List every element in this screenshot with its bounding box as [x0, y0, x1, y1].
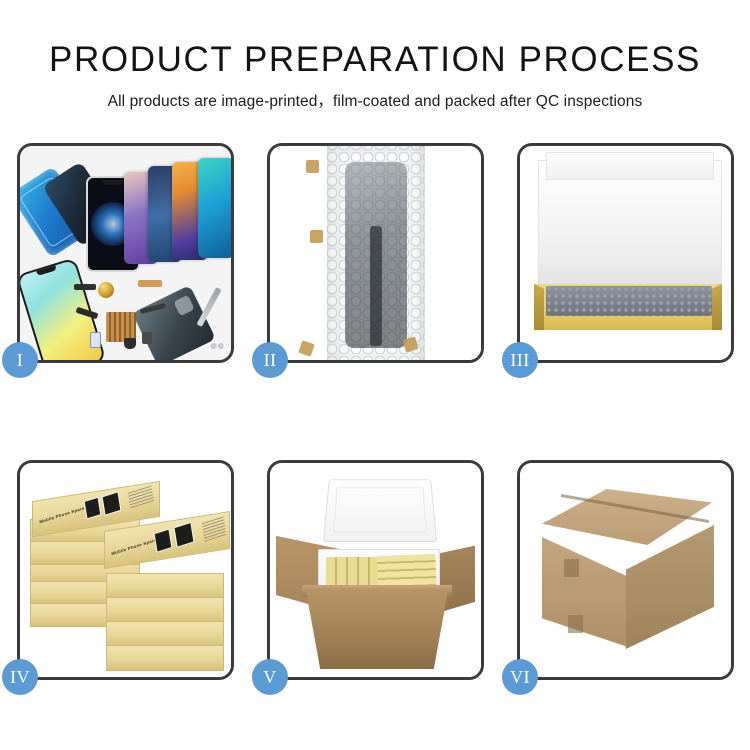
open-foam-box-image [520, 146, 731, 360]
process-step-panel-ii[interactable]: II [267, 143, 484, 363]
process-step-panel-iii[interactable]: III [517, 143, 734, 363]
tape-strip-3-shape [298, 340, 315, 357]
process-steps-grid: I II III [17, 143, 735, 680]
process-step-panel-i[interactable]: I [17, 143, 234, 363]
box-screen-thumb-back-2 [102, 491, 122, 516]
phone-parts-image [20, 146, 231, 360]
step-badge-iii: III [502, 342, 538, 378]
component-bar-shape [74, 284, 96, 290]
styrofoam-lid-shape [323, 479, 437, 542]
bubble-wrap-image [270, 146, 481, 360]
step-badge-i: I [2, 342, 38, 378]
page-header: PRODUCT PREPARATION PROCESS All products… [0, 0, 750, 111]
stacked-box-r2 [106, 597, 224, 623]
stacked-boxes-image: Mobile Phone Spare Parts Mobile Phone Sp… [20, 463, 231, 677]
carton-tape-2-shape [568, 615, 583, 633]
stacked-box-r3 [106, 621, 224, 647]
step-badge-ii: II [252, 342, 288, 378]
box-lid-flap-shape [546, 152, 714, 180]
process-step-panel-v[interactable]: V [267, 460, 484, 680]
carton-left-face-shape [542, 537, 628, 647]
box-spec-lines-front [202, 516, 227, 541]
box-screen-thumb-front-2 [173, 522, 194, 548]
step-badge-v: V [252, 659, 288, 695]
camera-module-shape [124, 338, 136, 349]
process-step-panel-iv[interactable]: Mobile Phone Spare Parts Mobile Phone Sp… [17, 460, 234, 680]
foam-insert-shape [546, 286, 712, 316]
carton-tape-1-shape [564, 559, 579, 577]
screws-shape [210, 342, 228, 350]
lcd-notch-shape [102, 180, 124, 185]
button-component-shape [142, 332, 152, 344]
page-subtitle: All products are image-printed，film-coat… [0, 79, 750, 111]
box-screen-thumb-back-1 [84, 497, 102, 520]
box-spec-lines-back [128, 485, 155, 510]
carton-front-shape [306, 591, 448, 669]
carton-with-foam-image [270, 463, 481, 677]
bubble-wrap-bag-shape [327, 146, 425, 360]
page-title: PRODUCT PREPARATION PROCESS [0, 0, 750, 79]
process-step-panel-vi[interactable]: VI [517, 460, 734, 680]
sim-tray-shape [90, 332, 101, 348]
stacked-box-r4 [106, 645, 224, 671]
carton-right-face-shape [626, 525, 714, 649]
wrapped-flex-cable-shape [370, 226, 382, 346]
sealed-carton-image [520, 463, 731, 677]
stacked-box-r1 [106, 573, 224, 599]
phone-fan-4-shape [198, 158, 231, 258]
tape-strip-2-shape [310, 230, 323, 243]
speaker-component-shape [98, 282, 114, 298]
step-badge-vi: VI [502, 659, 538, 695]
tape-strip-1-shape [306, 160, 319, 173]
box-screen-thumb-front-1 [154, 529, 173, 553]
flex-cable-c-shape [138, 280, 162, 287]
large-phone-notch-shape [36, 265, 57, 276]
step-badge-iv: IV [2, 659, 38, 695]
